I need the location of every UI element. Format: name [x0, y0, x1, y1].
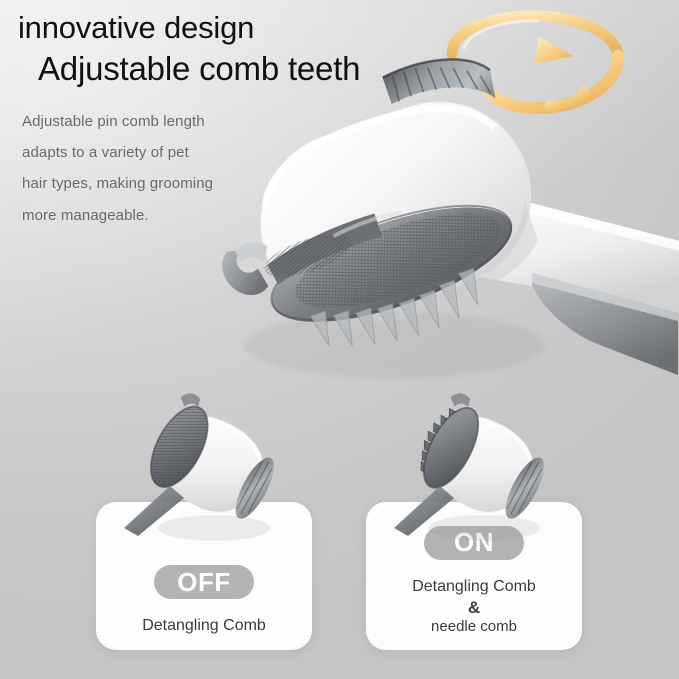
pet-grooming-brush-icon [180, 45, 679, 425]
status-badge-off: OFF [154, 565, 254, 599]
card-label-line: Detangling Comb [412, 578, 536, 597]
comb-attachment-extended-icon [388, 378, 578, 548]
product-feature-image: innovative design Adjustable comb teeth … [0, 0, 679, 679]
card-label-line: needle comb [431, 618, 517, 636]
card-label-ampersand: & [468, 598, 480, 618]
card-caption-off: Detangling Comb [142, 617, 266, 636]
comb-attachment-retracted-icon [118, 378, 308, 548]
card-label-line: Detangling Comb [142, 617, 266, 636]
card-caption-on: Detangling Comb & needle comb [412, 578, 536, 636]
headline-line-1: innovative design [18, 8, 448, 48]
